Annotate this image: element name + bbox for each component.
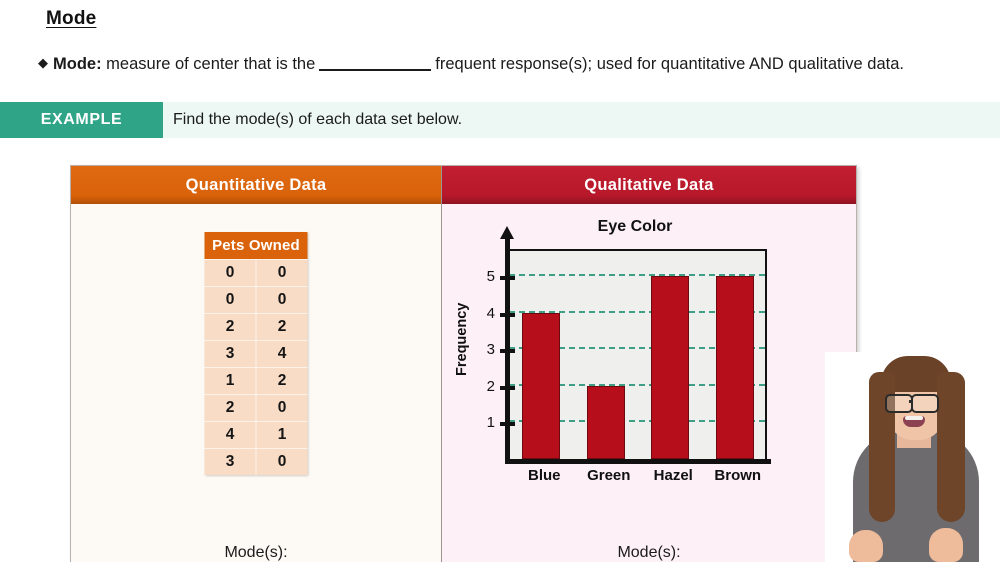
table-row: 00 [205,259,308,286]
example-badge: EXAMPLE [0,102,163,138]
table-row: 00 [205,286,308,313]
page-title: Mode [46,8,96,30]
table-row: 41 [205,421,308,448]
chart-x-tick-label: Brown [709,467,767,484]
avatar-hair-right [937,372,965,522]
table-cell: 4 [205,421,257,448]
pets-owned-table-body: 00 00 22 34 12 20 41 30 [205,259,308,475]
table-cell: 1 [205,367,257,394]
table-cell: 0 [257,394,308,421]
chart-y-tick [500,313,515,317]
table-cell: 2 [257,367,308,394]
fill-in-blank[interactable] [319,56,431,71]
avatar-hand-left [849,530,883,562]
quantitative-panel: Quantitative Data Pets Owned 00 00 22 34… [71,166,441,562]
chart-y-tick [500,422,515,426]
chart-y-tick-label: 2 [471,378,495,395]
pets-owned-table-header: Pets Owned [205,232,308,259]
chart-x-tick-label: Green [580,467,638,484]
chart-x-tick-label: Blue [515,467,573,484]
instructor-video-overlay [825,352,1000,562]
qualitative-panel-header: Qualitative Data [442,166,856,204]
chart-y-tick-label: 3 [471,341,495,358]
definition-text-before: measure of center that is the [106,55,315,73]
table-cell: 2 [205,394,257,421]
slide-canvas: Mode ◆Mode: measure of center that is th… [0,0,1000,562]
table-cell: 3 [205,448,257,475]
mode-definition-line: ◆Mode: measure of center that is thefreq… [38,53,978,74]
definition-term: Mode: [53,55,102,73]
avatar-glasses-left-lens [885,394,913,413]
chart-x-tick-label: Hazel [644,467,702,484]
table-cell: 0 [205,259,257,286]
chart-plot-area [509,249,767,461]
table-row: 34 [205,340,308,367]
table-cell: 1 [257,421,308,448]
chart-bar [587,386,625,459]
chart-bar [716,276,754,459]
table-row: 20 [205,394,308,421]
table-row: 22 [205,313,308,340]
diamond-bullet-icon: ◆ [38,55,48,70]
avatar-hand-right [929,528,963,562]
qualitative-mode-prompt: Mode(s): [442,544,856,562]
quantitative-panel-header: Quantitative Data [71,166,441,204]
example-instruction: Find the mode(s) of each data set below. [173,102,462,138]
data-comparison-panels: Quantitative Data Pets Owned 00 00 22 34… [70,165,857,562]
chart-y-tick [500,386,515,390]
chart-y-tick [500,276,515,280]
chart-x-axis [505,459,771,464]
table-cell: 4 [257,340,308,367]
chart-y-tick [500,349,515,353]
table-cell: 2 [257,313,308,340]
table-cell: 3 [205,340,257,367]
table-cell: 0 [257,286,308,313]
definition-text-after: frequent response(s); used for quantitat… [435,55,904,73]
chart-bar [522,313,560,459]
chart-y-tick-label: 5 [471,268,495,285]
example-strip: EXAMPLE Find the mode(s) of each data se… [0,102,1000,138]
table-row: 12 [205,367,308,394]
table-row: 30 [205,448,308,475]
avatar-teeth [905,416,923,420]
quantitative-mode-prompt: Mode(s): [71,544,441,562]
table-cell: 0 [257,448,308,475]
table-cell: 2 [205,313,257,340]
avatar-glasses-bridge [909,400,913,403]
chart-bar [651,276,689,459]
table-cell: 0 [257,259,308,286]
table-cell: 0 [205,286,257,313]
avatar-glasses-right-lens [911,394,939,413]
chart-y-axis-label: Frequency [454,303,470,376]
chart-y-tick-label: 1 [471,414,495,431]
chart-y-tick-label: 4 [471,305,495,322]
pets-owned-table: Pets Owned 00 00 22 34 12 20 41 30 [205,232,308,475]
qualitative-panel: Qualitative Data Eye Color Frequency 123… [441,166,856,562]
eye-color-bar-chart: Eye Color Frequency 12345 BlueGreenHazel… [458,218,812,508]
